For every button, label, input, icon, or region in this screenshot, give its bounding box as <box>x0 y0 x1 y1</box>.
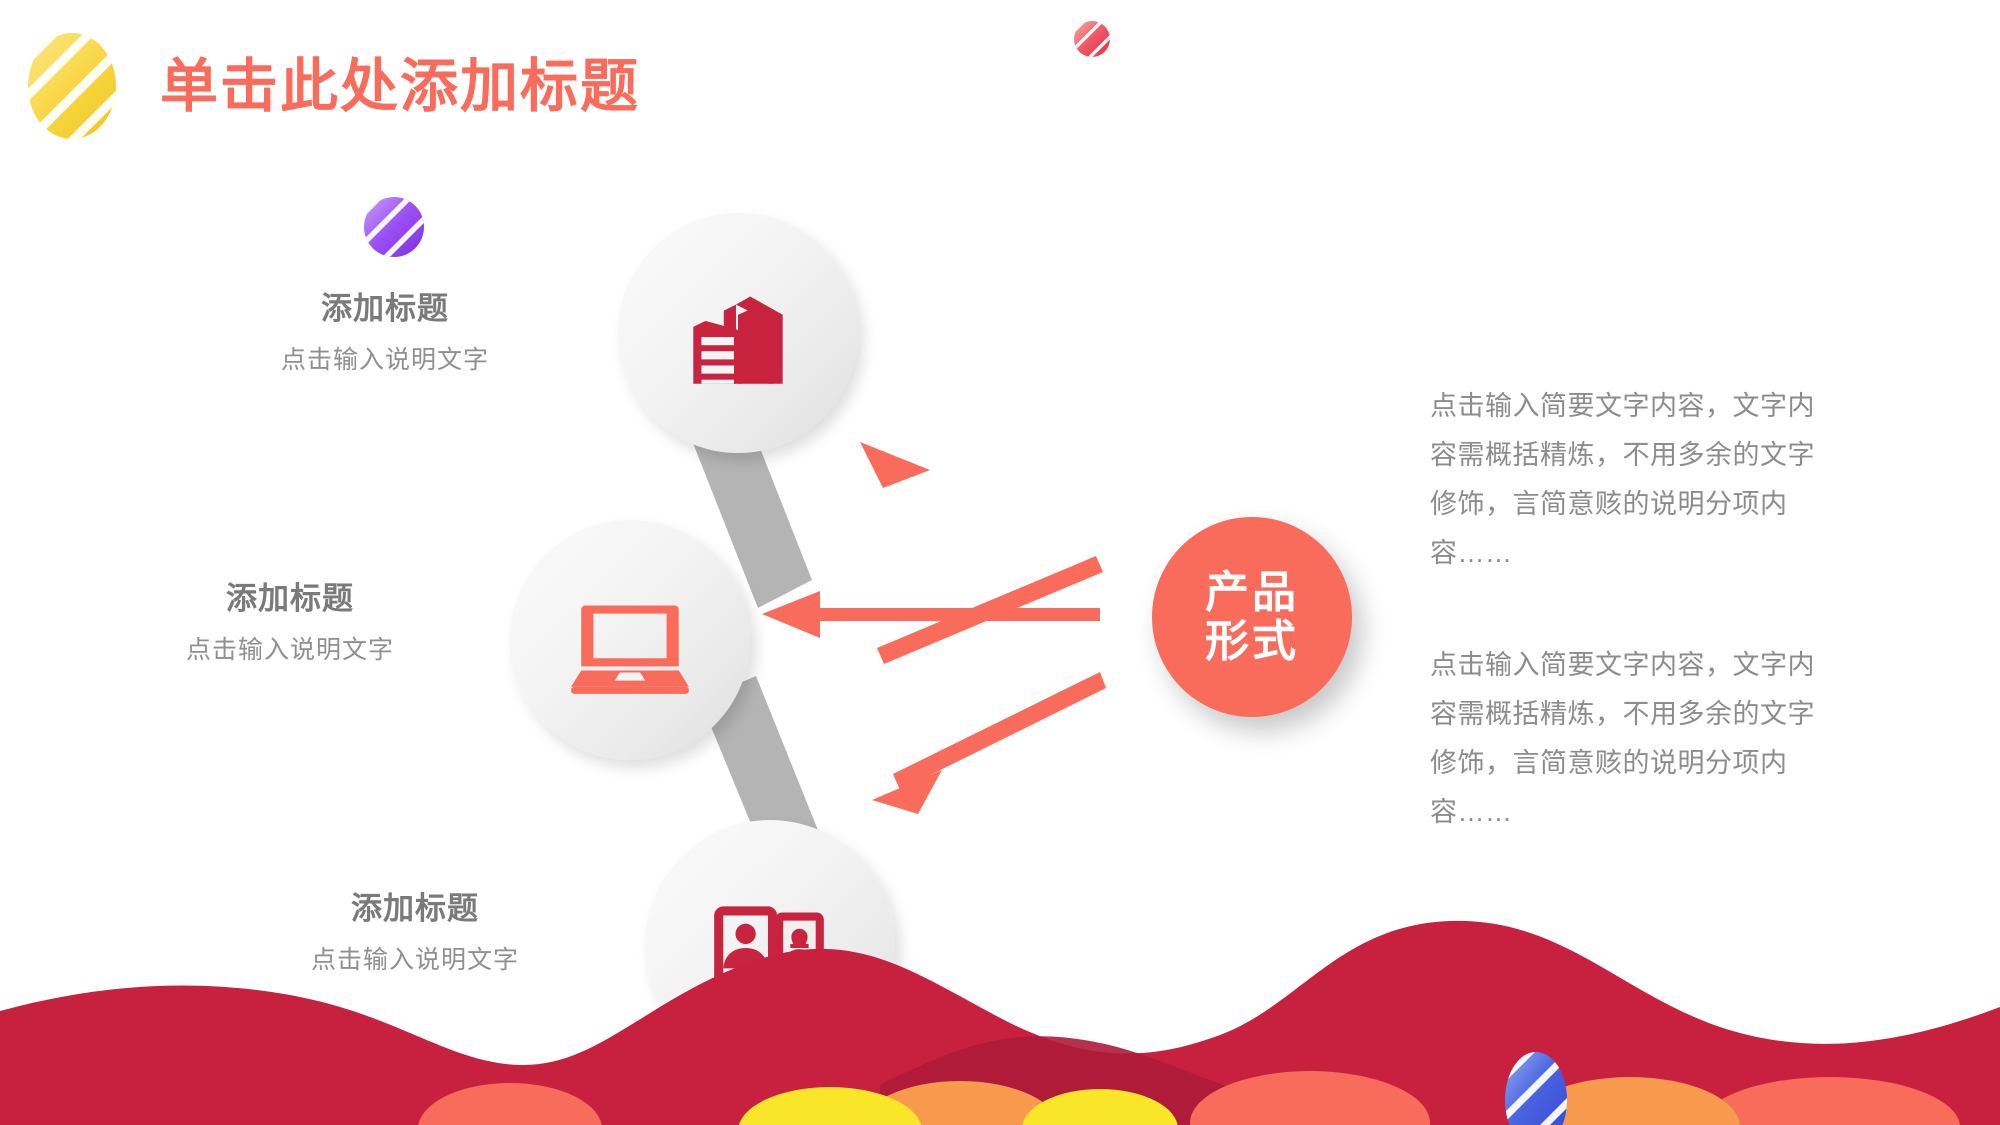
node-label-1-subtitle: 点击输入说明文字 <box>205 345 565 375</box>
node-label-1-title: 添加标题 <box>205 290 565 327</box>
arrow-from-center-icon <box>762 442 1106 814</box>
slide-header: 单击此处添加标题 <box>0 0 2000 170</box>
two-smartphones-users-icon <box>705 880 835 1010</box>
wave-blob-orange <box>860 1077 1740 1125</box>
node-label-1: 添加标题 点击输入说明文字 <box>205 290 565 375</box>
yellow-striped-sphere-icon <box>20 31 125 141</box>
node-label-3-subtitle: 点击输入说明文字 <box>225 945 605 975</box>
wave-crimson-front <box>880 1036 1320 1125</box>
node-label-3-title: 添加标题 <box>225 890 605 927</box>
office-building-icon <box>673 268 803 398</box>
node-circle-2[interactable] <box>510 520 750 760</box>
node-circle-1[interactable] <box>618 213 858 453</box>
wave-blob-coral <box>418 1071 1960 1125</box>
center-circle[interactable]: 产品 形式 <box>1152 517 1352 717</box>
center-label-line1: 产品 <box>1205 568 1299 617</box>
center-label-line2: 形式 <box>1205 617 1299 666</box>
right-description-block: 点击输入简要文字内容，文字内容需概括精炼，不用多余的文字修饰，言简意赅的说明分项… <box>1430 382 1830 837</box>
node-circle-3[interactable] <box>645 820 895 1070</box>
slide-canvas: 单击此处添加标题 <box>0 0 2000 1125</box>
node-label-2-subtitle: 点击输入说明文字 <box>110 635 470 665</box>
purple-striped-sphere-icon <box>363 196 425 258</box>
node-label-2-title: 添加标题 <box>110 580 470 617</box>
right-paragraph-1: 点击输入简要文字内容，文字内容需概括精炼，不用多余的文字修饰，言简意赅的说明分项… <box>1430 382 1830 579</box>
node-label-2: 添加标题 点击输入说明文字 <box>110 580 470 665</box>
red-striped-sphere-icon <box>1073 20 1111 58</box>
blue-striped-sphere-icon <box>1500 1050 1572 1125</box>
page-title: 单击此处添加标题 <box>160 58 640 116</box>
right-paragraph-2: 点击输入简要文字内容，文字内容需概括精炼，不用多余的文字修饰，言简意赅的说明分项… <box>1430 641 1830 838</box>
laptop-icon <box>565 575 695 705</box>
node-label-3: 添加标题 点击输入说明文字 <box>225 890 605 975</box>
wave-blob-yellow <box>738 1087 1178 1125</box>
